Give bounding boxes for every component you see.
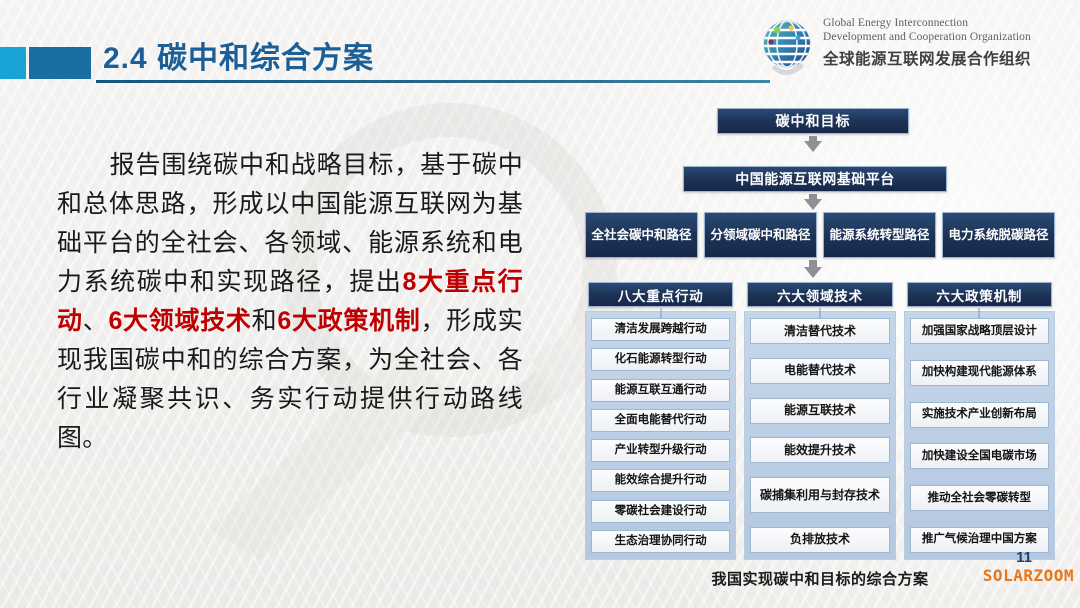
diagram-path-row: 全社会碳中和路径 分领域碳中和路径 能源系统转型路径 电力系统脱碳路径 <box>585 212 1055 258</box>
body-paragraph: 报告围绕碳中和战略目标，基于碳中和总体思路，形成以中国能源互联网为基础平台的全社… <box>57 146 523 458</box>
column-header-actions: 八大重点行动 <box>588 282 733 307</box>
list-item: 碳捕集利用与封存技术 <box>750 477 889 513</box>
column-header-policies: 六大政策机制 <box>907 282 1052 307</box>
list-item: 化石能源转型行动 <box>591 348 730 371</box>
column-connector-actions <box>660 308 661 318</box>
list-item: 能效综合提升行动 <box>591 469 730 492</box>
arrow-stem-3 <box>809 260 817 267</box>
text-run: 、 <box>83 307 109 335</box>
list-item: 全面电能替代行动 <box>591 409 730 432</box>
list-item: 加快构建现代能源体系 <box>910 360 1049 386</box>
solarzoom-watermark: SOLARZOOM <box>983 566 1074 585</box>
list-item: 能源互联技术 <box>750 398 889 424</box>
list-item: 生态治理协同行动 <box>591 530 730 553</box>
list-item: 能效提升技术 <box>750 437 889 463</box>
path-box-3: 电力系统脱碳路径 <box>942 212 1055 258</box>
list-item: 清洁替代技术 <box>750 318 889 344</box>
column-panel-actions: 清洁发展跨越行动 化石能源转型行动 能源互联互通行动 全面电能替代行动 产业转型… <box>585 311 736 560</box>
path-box-0: 全社会碳中和路径 <box>585 212 698 258</box>
logo-english-line2: Development and Cooperation Organization <box>823 30 1067 44</box>
logo-chinese-name: 全球能源互联网发展合作组织 <box>823 47 1067 69</box>
arrow-down-icon-2 <box>804 199 822 210</box>
list-item: 加强国家战略顶层设计 <box>910 318 1049 344</box>
organization-logo: Global Energy Interconnection Developmen… <box>757 14 1067 82</box>
header-accent-block-blue <box>29 47 91 79</box>
path-box-2: 能源系统转型路径 <box>823 212 936 258</box>
list-item: 实施技术产业创新布局 <box>910 402 1049 428</box>
diagram-platform-box: 中国能源互联网基础平台 <box>683 166 947 192</box>
path-box-1: 分领域碳中和路径 <box>704 212 817 258</box>
column-connector-technologies <box>819 308 820 318</box>
diagram-column-actions: 八大重点行动 清洁发展跨越行动 化石能源转型行动 能源互联互通行动 全面电能替代… <box>585 282 736 560</box>
paragraph-runs: 报告围绕碳中和战略目标，基于碳中和总体思路，形成以中国能源互联网为基础平台的全社… <box>57 151 523 452</box>
diagram-column-policies: 六大政策机制 加强国家战略顶层设计 加快构建现代能源体系 实施技术产业创新布局 … <box>904 282 1055 560</box>
page-number: 11 <box>1016 549 1032 566</box>
arrow-down-icon-3 <box>804 267 822 278</box>
list-item: 能源互联互通行动 <box>591 379 730 402</box>
text-run: 和 <box>252 307 278 335</box>
column-panel-technologies: 清洁替代技术 电能替代技术 能源互联技术 能效提升技术 碳捕集利用与封存技术 负… <box>744 311 895 560</box>
highlighted-text-run: 6大政策机制 <box>277 307 420 335</box>
list-item: 加快建设全国电碳市场 <box>910 443 1049 469</box>
list-item: 电能替代技术 <box>750 358 889 384</box>
slide-canvas: 2.4 碳中和综合方案 <box>0 0 1080 608</box>
title-underline-rule <box>96 80 770 83</box>
list-item: 负排放技术 <box>750 527 889 553</box>
list-item: 零碳社会建设行动 <box>591 500 730 523</box>
carbon-neutrality-diagram: 碳中和目标 中国能源互联网基础平台 全社会碳中和路径 分领域碳中和路径 能源系统… <box>585 108 1055 560</box>
column-header-technologies: 六大领域技术 <box>747 282 892 307</box>
arrow-down-icon-1 <box>804 141 822 152</box>
header-accent-block-cyan <box>0 47 26 79</box>
list-item: 清洁发展跨越行动 <box>591 318 730 341</box>
page-title: 2.4 碳中和综合方案 <box>103 33 374 77</box>
list-item: 产业转型升级行动 <box>591 439 730 462</box>
list-item: 推动全社会零碳转型 <box>910 485 1049 511</box>
diagram-columns: 八大重点行动 清洁发展跨越行动 化石能源转型行动 能源互联互通行动 全面电能替代… <box>585 282 1055 560</box>
column-panel-policies: 加强国家战略顶层设计 加快构建现代能源体系 实施技术产业创新布局 加快建设全国电… <box>904 311 1055 560</box>
column-connector-policies <box>979 308 980 318</box>
geidco-globe-icon <box>757 16 817 76</box>
logo-english-line1: Global Energy Interconnection <box>823 16 1067 30</box>
logo-text-block: Global Energy Interconnection Developmen… <box>823 16 1067 69</box>
diagram-column-technologies: 六大领域技术 清洁替代技术 电能替代技术 能源互联技术 能效提升技术 碳捕集利用… <box>744 282 895 560</box>
diagram-goal-box: 碳中和目标 <box>717 108 909 134</box>
highlighted-text-run: 6大领域技术 <box>108 307 251 335</box>
